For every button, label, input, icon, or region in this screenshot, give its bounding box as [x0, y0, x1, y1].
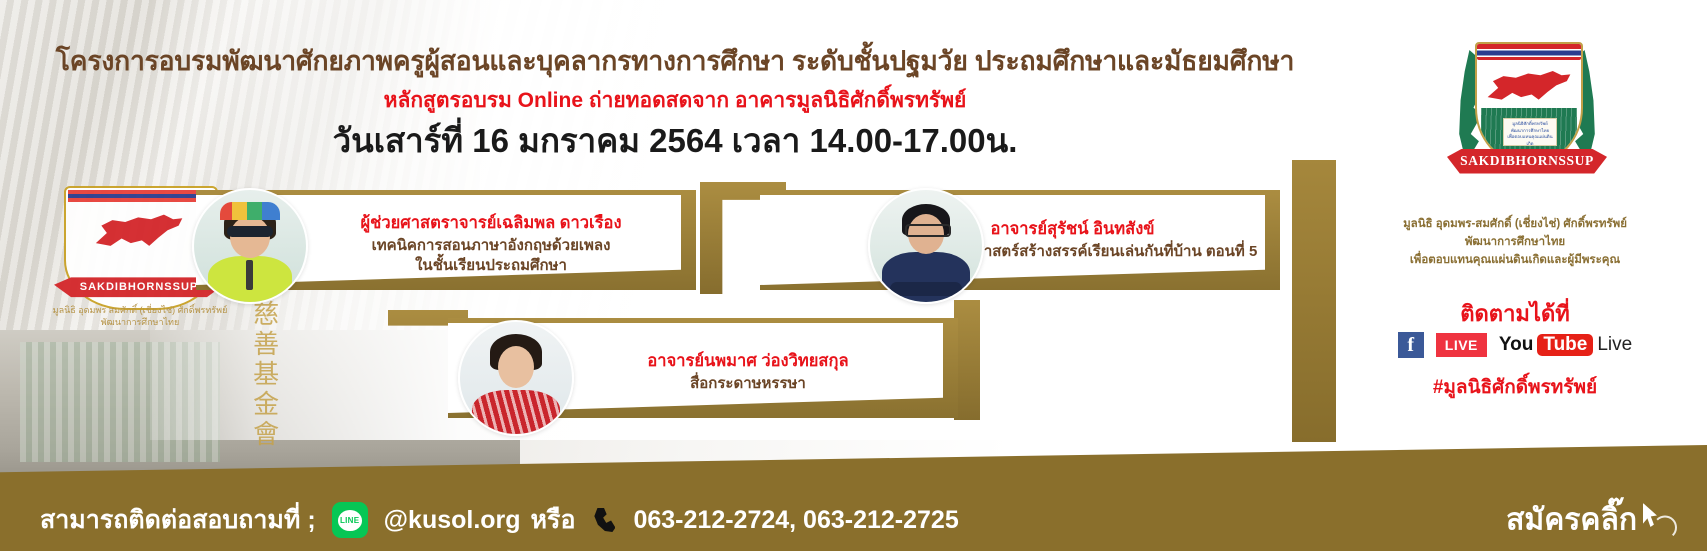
speaker-1-avatar-cap	[220, 202, 280, 220]
youtube-tube-icon: Tube	[1537, 334, 1593, 356]
line-icon-bubble: LINE	[338, 510, 362, 531]
wall-crest-flag-bar	[68, 190, 210, 202]
foundation-caption-line3: เพื่อตอบแทนคุณแผ่นดินเกิดและผู้มีพระคุณ	[1330, 252, 1700, 270]
foundation-caption-line1: มูลนิธิ อุดมพร-สมศักดิ์ (เชี่ยงไช่) ศักด…	[1330, 216, 1700, 234]
follow-heading: ติดตามได้ที่	[1330, 296, 1700, 331]
footer-or-word: หรือ	[531, 500, 576, 540]
course-subtitle: หลักสูตรอบรม Online ถ่ายทอดสดจาก อาคารมู…	[0, 84, 1350, 117]
speaker-1-topic-line1: เทคนิคการสอนภาษาอังกฤษด้วยเพลง	[306, 236, 676, 256]
wall-crest-caption-line1: มูลนิธิ อุดมพร สมศักดิ์ (เชี่ยงไช่) ศักด…	[40, 304, 240, 316]
cursor-click-icon	[1643, 503, 1673, 537]
speaker-3-avatar-body	[472, 390, 560, 436]
footer-line-id[interactable]: @kusol.org	[384, 506, 521, 535]
speaker-3-avatar	[458, 320, 574, 436]
youtube-live-link[interactable]: You Tube Live	[1499, 334, 1632, 356]
speaker-card-1-text: ผู้ช่วยศาสตราจารย์เฉลิมพล ดาวเรือง เทคนิ…	[306, 210, 676, 276]
speaker-card-3-text: อาจารย์นพมาศ ว่องวิทยสกุล สื่อกระดาษหรรษ…	[558, 348, 938, 394]
footer-bar: สามารถติดต่อสอบถามที่ ; LINE @kusol.org …	[0, 489, 1707, 551]
foundation-caption-line2: พัฒนาการศึกษาไทย	[1330, 234, 1700, 252]
youtube-live-text: Live	[1597, 334, 1632, 356]
speaker-3-topic-line1: สื่อกระดาษหรรษา	[558, 374, 938, 394]
wall-crest-caption-line2: พัฒนาการศึกษาไทย	[40, 316, 240, 328]
crest-ribbon: SAKDIBHORNSSUP	[1447, 148, 1607, 174]
speaker-2-avatar-body	[882, 252, 970, 304]
speaker-1-avatar	[192, 188, 308, 304]
banner-root: SAKDIBHORNSSUP มูลนิธิ อุดมพร สมศักดิ์ (…	[0, 0, 1707, 551]
crest-shield: มูลนิธิศักดิ์พรทรัพย์ พัฒนาการศึกษาไทย เ…	[1475, 42, 1583, 164]
crest-thai-flag-icon	[1477, 44, 1581, 60]
footer-phone-numbers[interactable]: 063-212-2724, 063-212-2725	[633, 506, 958, 535]
line-icon[interactable]: LINE	[332, 502, 368, 538]
apply-button-label: สมัครคลิ๊ก	[1506, 497, 1637, 544]
event-datetime: วันเสาร์ที่ 16 มกราคม 2564 เวลา 14.00-17…	[0, 114, 1350, 167]
speaker-1-avatar-sunglasses-icon	[227, 226, 273, 237]
wall-crest-caption: มูลนิธิ อุดมพร สมศักดิ์ (เชี่ยงไช่) ศักด…	[40, 304, 240, 328]
youtube-you-text: You	[1499, 334, 1533, 356]
crest-book-line1: มูลนิธิศักดิ์พรทรัพย์	[1504, 121, 1556, 128]
wall-chinese-sign: 慈善基金會	[250, 300, 279, 450]
speaker-1-avatar-face	[230, 216, 270, 258]
apply-button[interactable]: สมัครคลิ๊ก	[1506, 497, 1673, 544]
speaker-1-avatar-lanyard	[246, 260, 253, 290]
crest-ribbon-text: SAKDIBHORNSSUP	[1447, 148, 1607, 174]
speaker-2-avatar-glasses-icon	[905, 224, 951, 237]
footer-contact-prefix: สามารถติดต่อสอบถามที่ ;	[40, 500, 316, 540]
speaker-1-name: ผู้ช่วยศาสตราจารย์เฉลิมพล ดาวเรือง	[306, 210, 676, 236]
hashtag-text: #มูลนิธิศักดิ์พรทรัพย์	[1330, 372, 1700, 402]
speaker-1-topic-line2: ในชั้นเรียนประถมศึกษา	[306, 256, 676, 276]
crest-book-icon: มูลนิธิศักดิ์พรทรัพย์ พัฒนาการศึกษาไทย เ…	[1503, 118, 1557, 146]
speaker-2-avatar	[868, 188, 984, 304]
crest-horse-icon	[1485, 66, 1573, 108]
facebook-icon[interactable]: f	[1398, 332, 1424, 358]
page-title: โครงการอบรมพัฒนาศักยภาพครูผู้สอนและบุคลา…	[0, 40, 1350, 82]
footer-contact-group: สามารถติดต่อสอบถามที่ ; LINE @kusol.org …	[0, 489, 1707, 551]
crest-book-line3: เพื่อตอบแทนคุณแผ่นดินเกิด	[1504, 134, 1556, 147]
speaker-2-avatar-arms	[890, 282, 962, 296]
foundation-caption: มูลนิธิ อุดมพร-สมศักดิ์ (เชี่ยงไช่) ศักด…	[1330, 216, 1700, 269]
foundation-crest-logo: มูลนิธิศักดิ์พรทรัพย์ พัฒนาการศึกษาไทย เ…	[1447, 38, 1607, 200]
social-links: f LIVE You Tube Live	[1330, 332, 1700, 358]
speaker-3-avatar-face	[498, 346, 534, 388]
line-icon-text: LINE	[340, 516, 359, 525]
facebook-live-badge[interactable]: LIVE	[1436, 333, 1487, 357]
speaker-card-2: อาจารย์สุรัชน์ อินทสังข์ กิจกรรมคณิตศาสต…	[760, 190, 1280, 290]
phone-icon	[589, 505, 619, 535]
speaker-3-name: อาจารย์นพมาศ ว่องวิทยสกุล	[558, 348, 938, 374]
crest-book-text: มูลนิธิศักดิ์พรทรัพย์ พัฒนาการศึกษาไทย เ…	[1504, 119, 1556, 145]
